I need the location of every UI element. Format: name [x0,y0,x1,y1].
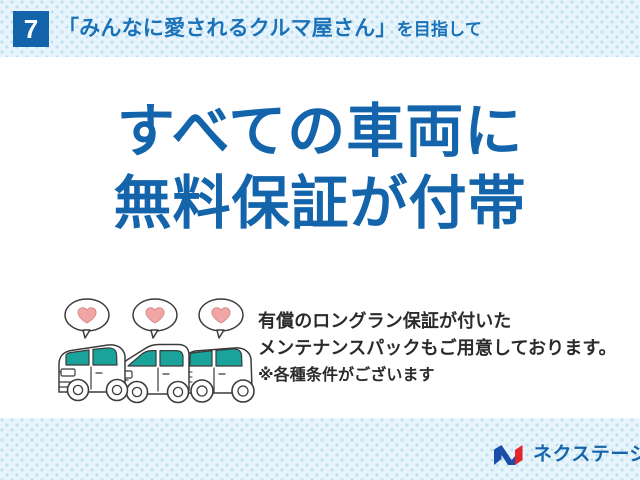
header-title: 「みんなに愛されるクルマ屋さん」を目指して [58,13,482,45]
promo-banner: 7 「みんなに愛されるクルマ屋さん」を目指して すべての車両に 無料保証が付帯 [0,0,640,480]
brand-name: ネクステージ [533,444,640,466]
headline-line-2: 無料保証が付帯 [0,168,640,240]
car-minivan [118,345,189,403]
header-title-quote: 「みんなに愛されるクルマ屋さん」 [58,17,397,40]
brand-logo: ネクステージ [492,440,640,470]
header-title-tail: を目指して [397,20,483,39]
header-number-badge: 7 [13,11,49,47]
headline-line-1: すべての車両に [0,96,640,168]
headline-block: すべての車両に 無料保証が付帯 [0,96,640,240]
nexstage-n-mark [492,443,526,467]
body-line-3-note: ※各種条件がございます [258,362,630,389]
body-copy: 有償のロングラン保証が付いた メンテナンスパックもご用意しております。 ※各種条… [258,308,630,389]
body-line-1: 有償のロングラン保証が付いた [258,308,630,335]
speech-bubble-2 [133,299,177,338]
speech-bubble-1 [65,299,109,338]
cars-illustration [56,292,256,404]
speech-bubble-3 [199,299,243,338]
body-line-2: メンテナンスパックもご用意しております。 [258,335,630,362]
car-suv [183,348,254,402]
car-kei-van [59,345,128,401]
